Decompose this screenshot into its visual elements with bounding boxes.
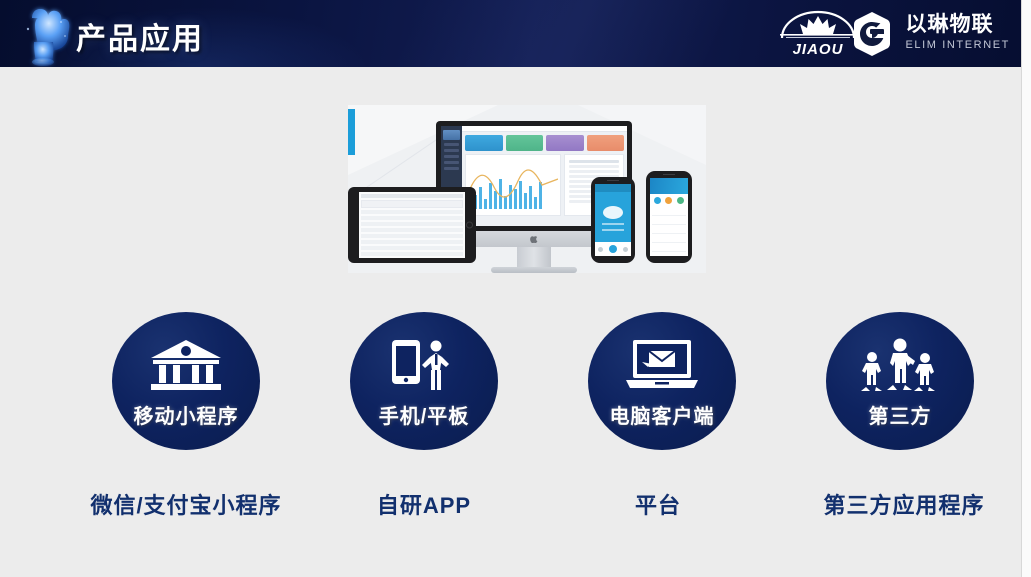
slide-root: 产品应用 JIAOU 以琳物联 ELIM INTERNET: [0, 0, 1031, 577]
bank-building-icon: [112, 338, 260, 392]
node-third-party[interactable]: 第三方: [826, 312, 974, 450]
imac-stand: [517, 247, 551, 269]
label-wechat-alipay-miniprogram: 微信/支付宝小程序: [66, 488, 306, 520]
phone-blue-app-screen: [595, 184, 631, 256]
dashboard-chart: [465, 154, 561, 216]
apple-logo-icon: [530, 234, 538, 243]
accent-bar: [348, 109, 355, 155]
logo-elim-text: 以琳物联 ELIM INTERNET: [905, 14, 1010, 53]
application-nodes-row: 移动小程序 手机/平板: [0, 312, 1022, 452]
g-hexagon-icon: [849, 11, 895, 57]
multi-device-product-screenshot: [348, 105, 706, 273]
phone-list-app-screen: [650, 178, 688, 256]
ipad-screen: [359, 192, 465, 258]
ipad-device: [348, 187, 476, 263]
label-platform: 平台: [538, 488, 778, 520]
node-caption: 移动小程序: [112, 400, 260, 429]
phone-list-app-device: [646, 171, 692, 263]
phone-blue-app-device: [591, 177, 635, 263]
node-mini-program[interactable]: 移动小程序: [112, 312, 260, 450]
bottom-labels-row: 微信/支付宝小程序 自研APP 平台 第三方应用程序: [0, 488, 1022, 528]
logo-elim-en: ELIM INTERNET: [905, 38, 1010, 53]
label-self-developed-app: 自研APP: [304, 488, 544, 520]
node-caption: 电脑客户端: [588, 400, 736, 429]
dashboard-stat-cards: [465, 135, 624, 151]
raised-fist-icon: [12, 0, 82, 67]
node-desktop-client[interactable]: 电脑客户端: [588, 312, 736, 450]
phone-person-icon: [350, 338, 498, 394]
page-title: 产品应用: [76, 14, 204, 58]
imac-base: [491, 267, 577, 273]
node-mobile-tablet[interactable]: 手机/平板: [350, 312, 498, 450]
slide-header: 产品应用 JIAOU 以琳物联 ELIM INTERNET: [0, 0, 1022, 67]
node-caption: 手机/平板: [350, 400, 498, 429]
logo-elim: 以琳物联 ELIM INTERNET: [849, 9, 1010, 59]
logo-elim-cn: 以琳物联: [905, 14, 1010, 36]
ipad-home-button: [466, 222, 473, 229]
laptop-mail-icon: [588, 338, 736, 394]
people-group-icon: [826, 338, 974, 394]
node-caption: 第三方: [826, 400, 974, 429]
label-third-party-application: 第三方应用程序: [784, 488, 1024, 520]
